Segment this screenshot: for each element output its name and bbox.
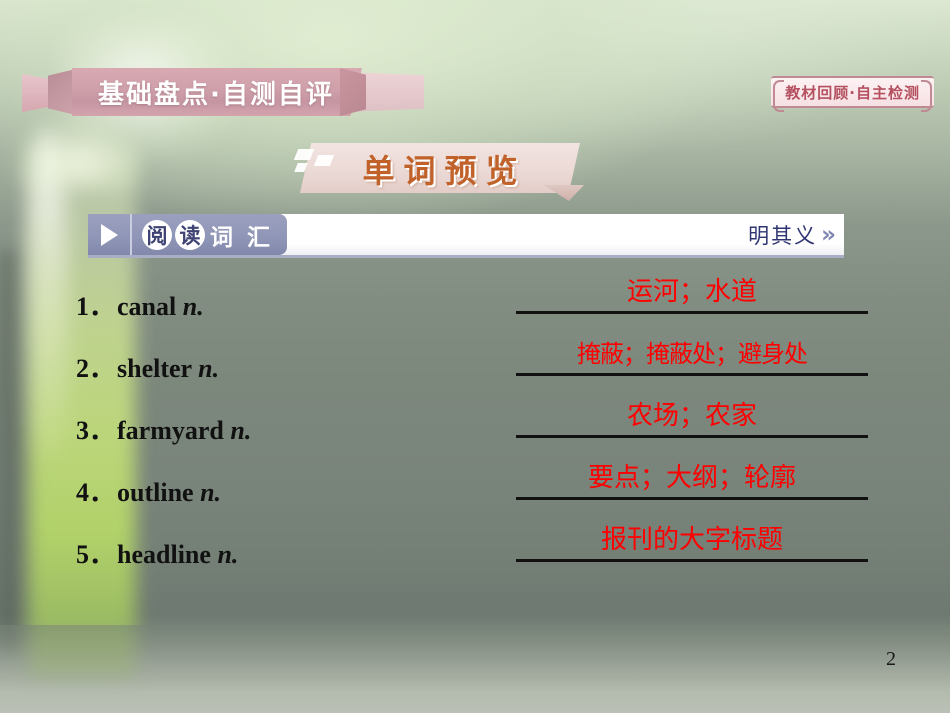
section-bar-tab[interactable]: 阅 读 词 汇 bbox=[88, 214, 287, 255]
play-triangle-icon bbox=[88, 214, 132, 255]
answer-underline bbox=[516, 435, 868, 438]
vocab-row: 1．canal n. 运河；水道 bbox=[0, 272, 950, 334]
vocab-number: 2． bbox=[76, 354, 115, 383]
answer-underline bbox=[516, 311, 868, 314]
vocab-answer-blank[interactable]: 掩蔽；掩蔽处；避身处 bbox=[516, 336, 868, 376]
vocab-answer-text: 运河；水道 bbox=[516, 274, 868, 310]
glass-top-foam bbox=[16, 120, 142, 190]
slide-canvas: 基础盘点·自测自评 教材回顾·自主检测 单词预览 阅 读 词 汇 明其义 bbox=[0, 0, 950, 713]
vocab-row: 2．shelter n. 掩蔽；掩蔽处；避身处 bbox=[0, 334, 950, 396]
vocab-word: shelter bbox=[117, 354, 192, 383]
circled-char-1: 阅 bbox=[142, 220, 172, 250]
answer-underline bbox=[516, 559, 868, 562]
vocab-answer-blank[interactable]: 运河；水道 bbox=[516, 274, 868, 314]
header-ribbon: 基础盘点·自测自评 bbox=[22, 68, 402, 116]
vocab-row: 3．farmyard n. 农场；农家 bbox=[0, 396, 950, 458]
vocab-pos: n. bbox=[200, 478, 221, 507]
header-ribbon-title: 基础盘点·自测自评 bbox=[72, 74, 334, 111]
vocab-answer-text: 掩蔽；掩蔽处；避身处 bbox=[516, 336, 868, 372]
vocab-number: 3． bbox=[76, 416, 115, 445]
vocab-word: headline bbox=[117, 540, 211, 569]
vocab-answer-text: 要点；大纲；轮廓 bbox=[516, 460, 868, 496]
answer-underline bbox=[516, 373, 868, 376]
vocab-pos: n. bbox=[230, 416, 251, 445]
vocab-term: 5．headline n. bbox=[76, 534, 238, 571]
vocab-row: 5．headline n. 报刊的大字标题 bbox=[0, 520, 950, 582]
vocab-list: 1．canal n. 运河；水道 2．shelter n. 掩蔽；掩蔽处；避身处… bbox=[0, 272, 950, 582]
vocab-word: farmyard bbox=[117, 416, 224, 445]
vocab-word: canal bbox=[117, 292, 176, 321]
ribbon-body: 基础盘点·自测自评 bbox=[72, 68, 362, 116]
vocab-number: 1． bbox=[76, 292, 115, 321]
vocab-term: 4．outline n. bbox=[76, 472, 221, 509]
circled-char-2: 读 bbox=[175, 220, 205, 250]
section-bar-tab-label: 阅 读 词 汇 bbox=[132, 218, 275, 252]
vocab-answer-blank[interactable]: 农场；农家 bbox=[516, 398, 868, 438]
vocab-term: 1．canal n. bbox=[76, 286, 204, 323]
vocab-pos: n. bbox=[198, 354, 219, 383]
vocab-answer-text: 农场；农家 bbox=[516, 398, 868, 434]
vocab-word: outline bbox=[117, 478, 194, 507]
section-bar-right-label: 明其义 bbox=[748, 220, 817, 250]
vocab-pos: n. bbox=[217, 540, 238, 569]
vocab-answer-text: 报刊的大字标题 bbox=[516, 522, 868, 558]
table-surface-band bbox=[0, 625, 950, 713]
vocab-pos: n. bbox=[183, 292, 204, 321]
vocab-term: 3．farmyard n. bbox=[76, 410, 251, 447]
section-bar-tab-suffix: 词 汇 bbox=[208, 218, 275, 252]
header-right-tag: 教材回顾·自主检测 bbox=[771, 76, 934, 108]
answer-underline bbox=[516, 497, 868, 500]
vocab-answer-blank[interactable]: 报刊的大字标题 bbox=[516, 522, 868, 562]
section-bar-right[interactable]: 明其义 » bbox=[748, 214, 836, 255]
title-box-label: 单词预览 bbox=[294, 143, 586, 195]
double-chevron-right-icon: » bbox=[821, 222, 836, 248]
header-right-tag-label: 教材回顾·自主检测 bbox=[785, 82, 920, 103]
page-number: 2 bbox=[886, 648, 896, 671]
vocab-number: 5． bbox=[76, 540, 115, 569]
vocab-number: 4． bbox=[76, 478, 115, 507]
ribbon-right-fold bbox=[340, 68, 366, 116]
vocab-term: 2．shelter n. bbox=[76, 348, 219, 385]
vocab-row: 4．outline n. 要点；大纲；轮廓 bbox=[0, 458, 950, 520]
title-box: 单词预览 bbox=[294, 143, 586, 199]
section-bar: 阅 读 词 汇 明其义 » bbox=[88, 214, 844, 258]
vocab-answer-blank[interactable]: 要点；大纲；轮廓 bbox=[516, 460, 868, 500]
